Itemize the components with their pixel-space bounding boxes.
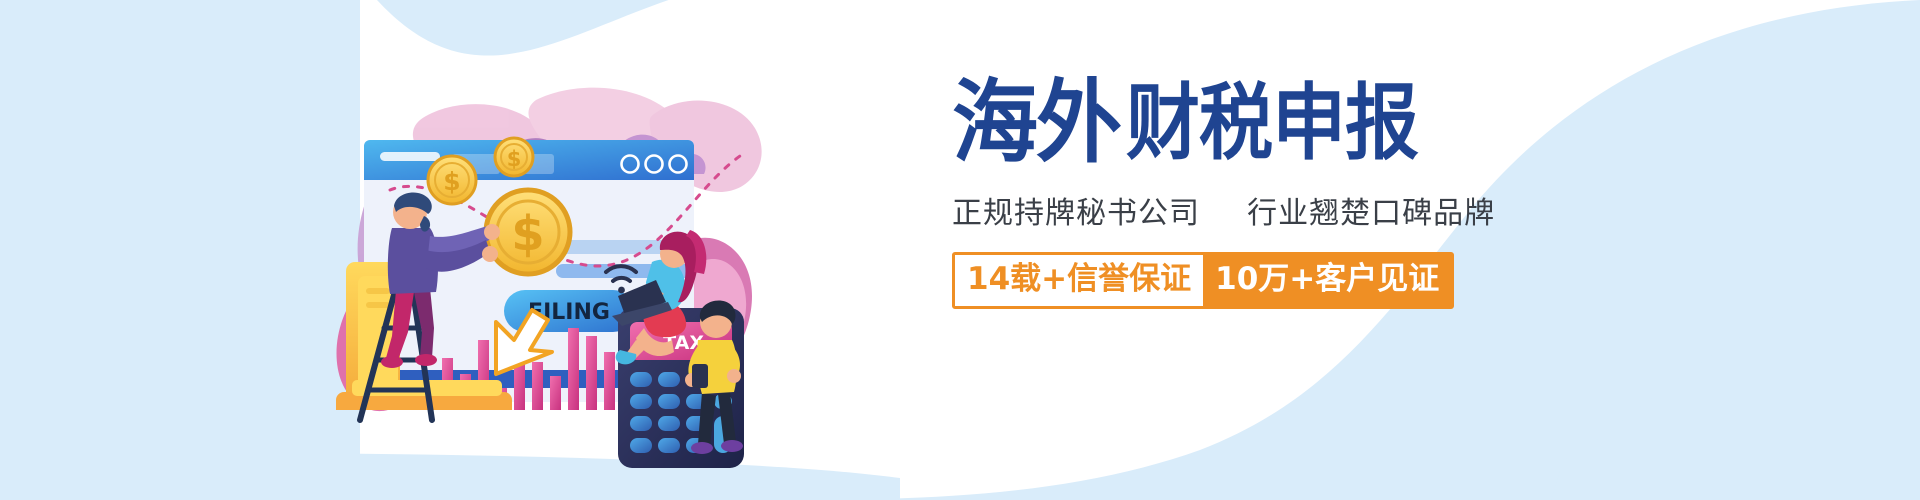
badge-group: 14载+信誉保证 10万+客户见证 <box>952 252 1454 309</box>
coin-small-back: $ <box>428 156 476 204</box>
page-title: 海外 财税申报 <box>952 72 1572 168</box>
illustration-svg: FILING <box>300 40 780 460</box>
coin-small-top: $ <box>495 138 533 176</box>
svg-text:$: $ <box>507 147 522 171</box>
headline-part2: 财税申报 <box>1126 82 1418 165</box>
badge-customers: 10万+客户见证 <box>1203 255 1451 306</box>
illustration: FILING <box>300 40 780 460</box>
copy-block: 海外 财税申报 正规持牌秘书公司 行业翘楚口碑品牌 14载+信誉保证 10万+客… <box>952 72 1572 309</box>
headline-part1: 海外 <box>952 78 1120 168</box>
subheadline-left: 正规持牌秘书公司 <box>952 196 1200 231</box>
coin-symbol: $ <box>443 167 460 196</box>
subheadline-right: 行业翘楚口碑品牌 <box>1247 196 1495 231</box>
promo-banner: FILING <box>0 0 1920 500</box>
svg-text:$: $ <box>511 206 544 262</box>
badge-credibility: 14载+信誉保证 <box>955 255 1203 306</box>
subheadline: 正规持牌秘书公司 行业翘楚口碑品牌 <box>952 188 1572 232</box>
